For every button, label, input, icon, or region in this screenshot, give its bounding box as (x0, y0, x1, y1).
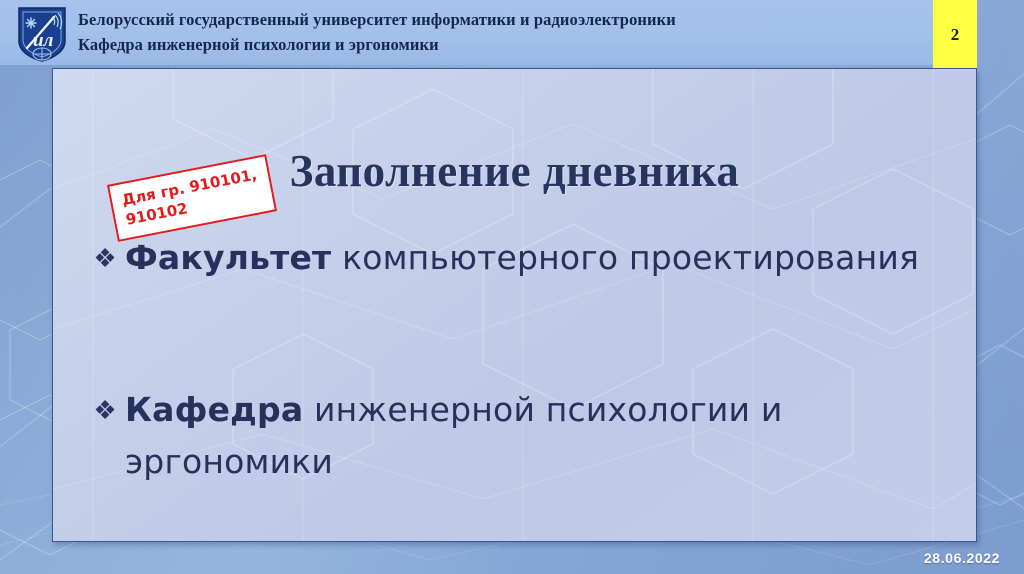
bullet-rest-faculty: компьютерного проектирования (331, 238, 919, 277)
bullet-lead-department: Кафедра (125, 390, 303, 429)
bullet-list: ❖ Факультет компьютерного проектирования… (85, 232, 936, 488)
bullet-text-department: Кафедра инженерной психологии и эргономи… (125, 384, 936, 488)
presentation-slide: ил Белорусский государственный университ… (0, 0, 1024, 574)
page-number-value: 2 (951, 25, 960, 45)
header-university-name: Белорусский государственный университет … (78, 7, 898, 32)
bsuir-shield-logo-icon: ил (14, 5, 70, 63)
bullet-item-department: ❖ Кафедра инженерной психологии и эргоно… (85, 384, 936, 488)
header-institution-block: Белорусский государственный университет … (78, 7, 898, 57)
bullet-item-faculty: ❖ Факультет компьютерного проектирования (85, 232, 936, 284)
page-number-tab: 2 (933, 0, 977, 70)
header-department-name: Кафедра инженерной психологии и эргономи… (78, 32, 898, 57)
diamond-bullet-icon: ❖ (85, 384, 125, 436)
slide-content-panel: Заполнение дневника ❖ Факультет компьюте… (52, 68, 977, 542)
bullet-lead-faculty: Факультет (125, 238, 331, 277)
bullet-text-faculty: Факультет компьютерного проектирования (125, 232, 936, 284)
footer-date: 28.06.2022 (924, 550, 1000, 566)
